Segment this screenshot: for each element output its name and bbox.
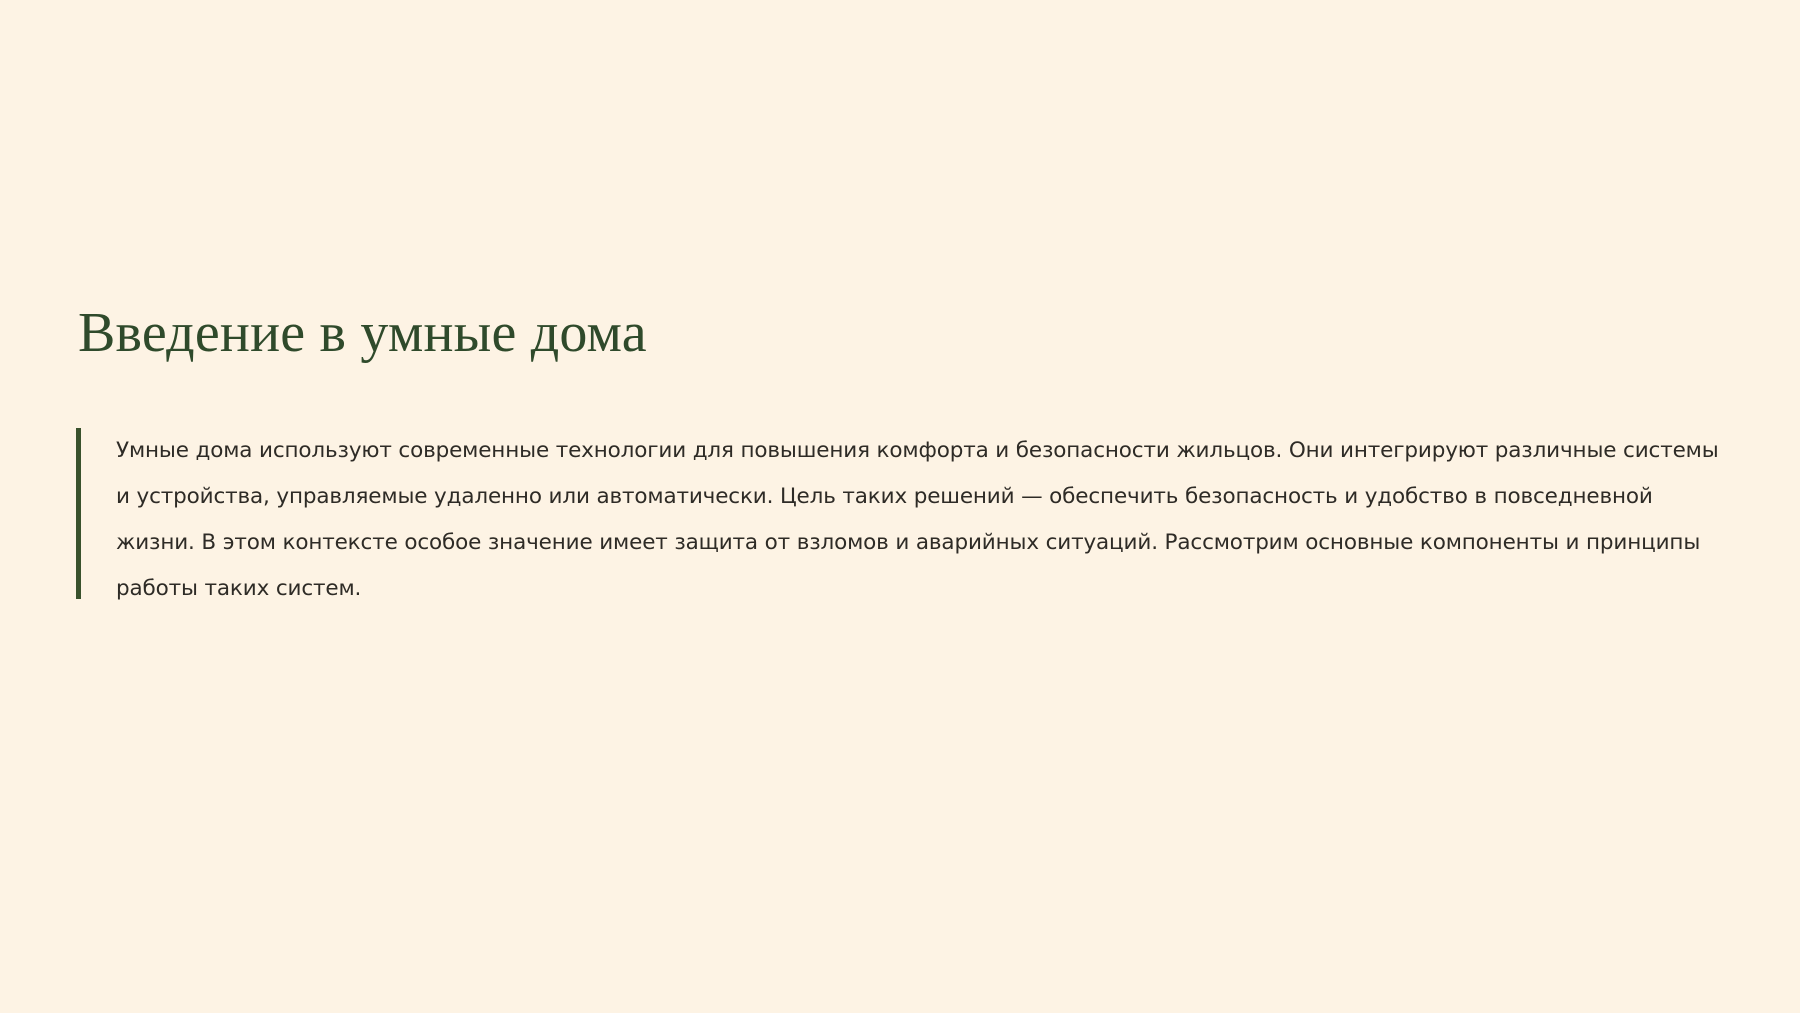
- lead-paragraph: Умные дома используют современные технол…: [116, 428, 1726, 612]
- lead-callout: Умные дома используют современные технол…: [76, 428, 1726, 612]
- page-title: Введение в умные дома: [76, 300, 1726, 366]
- accent-bar: [76, 428, 81, 599]
- intro-section: Введение в умные дома Умные дома использ…: [76, 300, 1726, 612]
- document-page: Введение в умные дома Умные дома использ…: [0, 0, 1800, 1013]
